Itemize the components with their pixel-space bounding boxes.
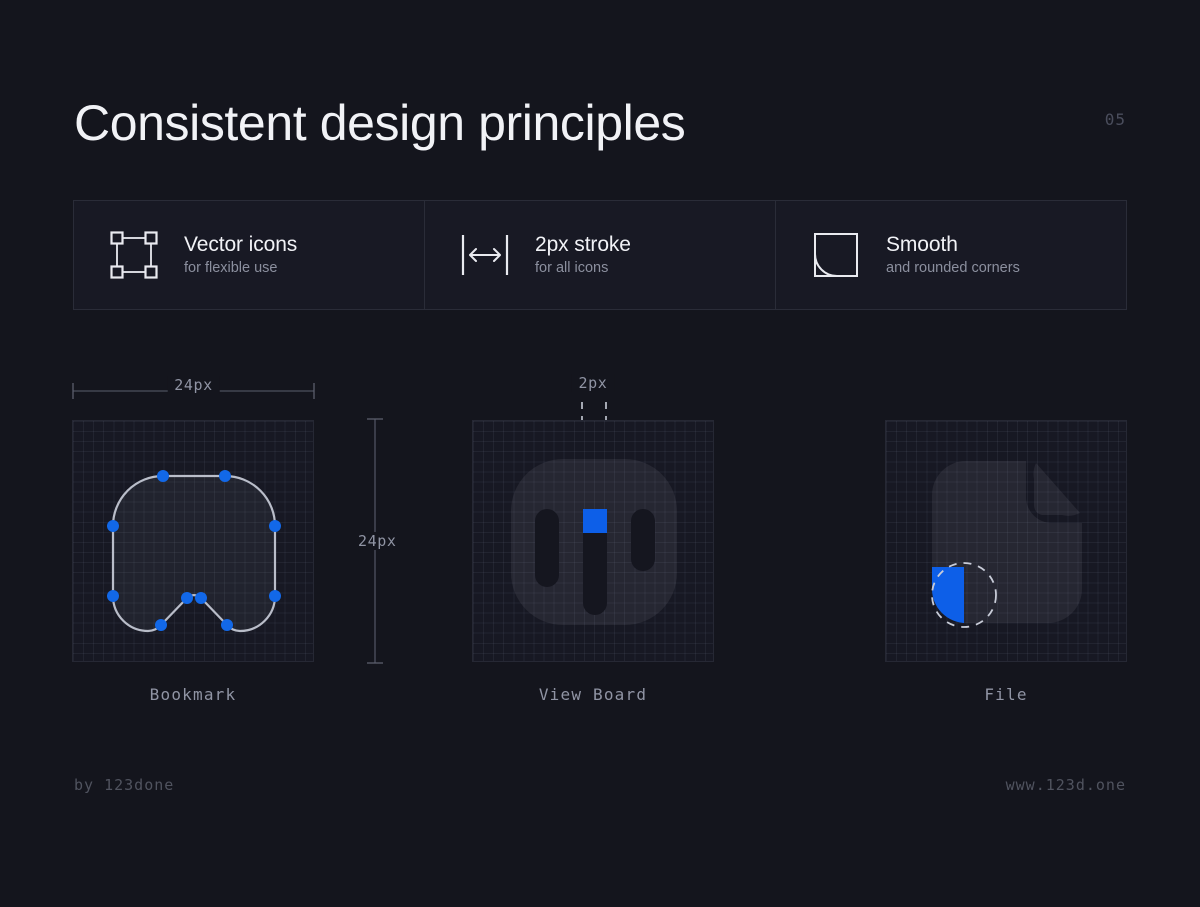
feature-strip: Vector icons for flexible use 2px stroke… (73, 200, 1127, 310)
footer-credit: by 123done (74, 776, 174, 794)
showcase-item-bookmark: 24px 24px (24, 360, 364, 720)
stroke-highlight-swatch (583, 509, 607, 533)
design-grid-panel (885, 420, 1127, 662)
view-board-glyph (473, 421, 715, 663)
dimension-width-label: 24px (167, 376, 220, 394)
feature-title: Smooth (886, 233, 1020, 257)
feature-card-smooth[interactable]: Smooth and rounded corners (775, 201, 1126, 309)
rounded-corner-icon (808, 227, 864, 283)
feature-subtitle: and rounded corners (886, 260, 1020, 277)
dimension-height-label: 24px (351, 532, 404, 550)
feature-text: Vector icons for flexible use (184, 233, 297, 278)
icon-label-file: File (837, 685, 1175, 704)
showcase-item-file: File (837, 360, 1177, 720)
feature-text: Smooth and rounded corners (886, 233, 1020, 278)
width-measure-icon (457, 227, 513, 283)
bookmark-glyph (73, 421, 315, 663)
selection-box-icon (106, 227, 162, 283)
dimension-width: 24px (72, 376, 315, 402)
feature-title: 2px stroke (535, 233, 631, 257)
feature-subtitle: for all icons (535, 260, 631, 277)
icon-showcase-row: 24px 24px (0, 360, 1200, 720)
dimension-height: 24px (339, 418, 399, 664)
slide-header: Consistent design principles 05 (74, 88, 1126, 158)
design-grid-panel (72, 420, 314, 662)
slide-canvas: Consistent design principles 05 Vector i… (0, 0, 1200, 907)
page-title: Consistent design principles (74, 88, 685, 158)
icon-label-view-board: View Board (424, 685, 762, 704)
page-number: 05 (1105, 110, 1126, 129)
stroke-width-label: 2px (572, 374, 615, 392)
feature-title: Vector icons (184, 233, 297, 257)
file-glyph (886, 421, 1128, 663)
feature-card-vector-icons[interactable]: Vector icons for flexible use (74, 201, 424, 309)
design-grid-panel (472, 420, 714, 662)
showcase-item-view-board: 2px View Board (424, 360, 764, 720)
slide-footer: by 123done www.123d.one (74, 776, 1126, 802)
feature-text: 2px stroke for all icons (535, 233, 631, 278)
footer-website[interactable]: www.123d.one (1006, 776, 1126, 794)
feature-subtitle: for flexible use (184, 260, 297, 277)
icon-label-bookmark: Bookmark (24, 685, 362, 704)
feature-card-2px-stroke[interactable]: 2px stroke for all icons (424, 201, 775, 309)
